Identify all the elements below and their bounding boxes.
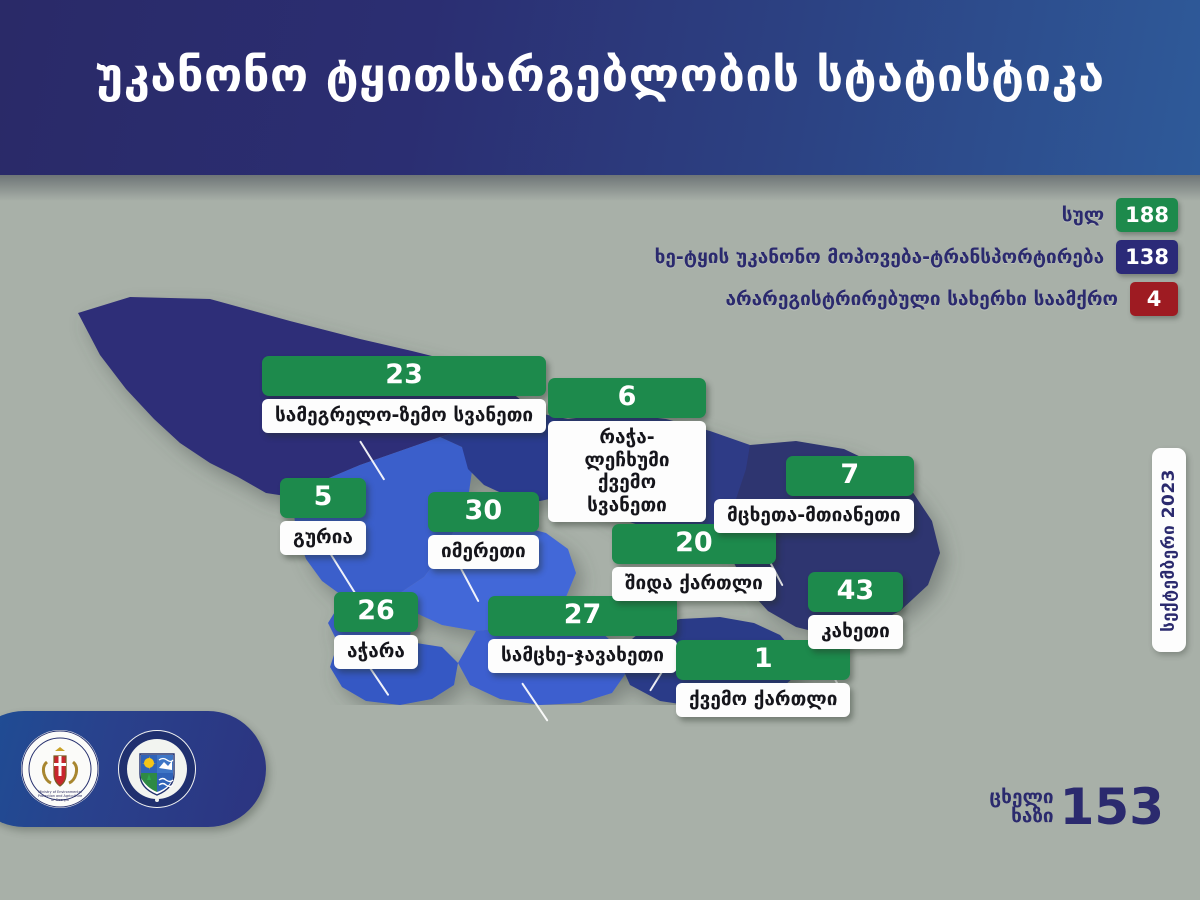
region-value: 30: [428, 492, 539, 532]
region-value: 43: [808, 572, 903, 612]
region-label-line2: ქვემო სვანეთი: [587, 471, 667, 515]
legend-badge: 188: [1116, 198, 1178, 232]
callout-kvemo-kartli[interactable]: 1 ქვემო ქართლი: [676, 640, 850, 717]
callout-guria[interactable]: 5 გურია: [280, 478, 366, 555]
hotline-number: 153: [1060, 784, 1164, 830]
region-value: 5: [280, 478, 366, 518]
callout-racha[interactable]: 6 რაჭა-ლეჩხუმი ქვემო სვანეთი: [548, 378, 706, 522]
region-value: 23: [262, 356, 546, 396]
hotline[interactable]: ცხელი ხაზი 153: [989, 784, 1164, 830]
region-label: ქვემო ქართლი: [676, 683, 850, 716]
region-value: 6: [548, 378, 706, 418]
region-label: აჭარა: [334, 635, 418, 668]
infographic-root: უკანონო ტყითსარგებლობის სტატისტიკა: [0, 0, 1200, 900]
region-value: 7: [786, 456, 914, 496]
callout-imereti[interactable]: 30 იმერეთი: [428, 492, 539, 569]
region-label: მცხეთა-მთიანეთი: [714, 499, 914, 532]
hotline-label-line2: ხაზი: [989, 807, 1053, 826]
region-value: 26: [334, 592, 418, 632]
callout-mtskheta[interactable]: 7 მცხეთა-მთიანეთი: [786, 456, 914, 533]
region-label: რაჭა-ლეჩხუმი ქვემო სვანეთი: [548, 421, 706, 522]
callout-shida-kartli[interactable]: 20 შიდა ქართლი: [612, 524, 776, 601]
region-label: იმერეთი: [428, 535, 539, 568]
legend: სულ 188 ხე-ტყის უკანონო მოპოვება-ტრანსპო…: [655, 198, 1178, 316]
region-label: კახეთი: [808, 615, 903, 648]
date-badge-text: სექტემბერი 2023: [1159, 469, 1179, 632]
legend-row-sawmill[interactable]: არარეგისტრირებული სახერხი საამქრო 4: [726, 282, 1179, 316]
svg-text:of Georgia: of Georgia: [51, 798, 69, 802]
callout-adjara[interactable]: 26 აჭარა: [334, 592, 418, 669]
header-banner: უკანონო ტყითსარგებლობის სტატისტიკა: [0, 0, 1200, 175]
region-value: 27: [488, 596, 677, 636]
region-label: სამეგრელო-ზემო სვანეთი: [262, 399, 546, 432]
hotline-label: ცხელი ხაზი: [989, 788, 1053, 826]
page-title: უკანონო ტყითსარგებლობის სტატისტიკა: [0, 48, 1200, 103]
region-label: გურია: [280, 521, 366, 554]
legend-badge: 4: [1130, 282, 1178, 316]
legend-row-logging[interactable]: ხე-ტყის უკანონო მოპოვება-ტრანსპორტირება …: [655, 240, 1178, 274]
region-label: შიდა ქართლი: [612, 567, 776, 600]
callout-kakheti[interactable]: 43 კახეთი: [808, 572, 903, 649]
legend-label: ხე-ტყის უკანონო მოპოვება-ტრანსპორტირება: [655, 246, 1105, 268]
region-label-line1: რაჭა-ლეჩხუმი: [584, 426, 669, 470]
legend-badge: 138: [1116, 240, 1178, 274]
ministry-emblem-icon: Ministry of Environmental Protection and…: [21, 730, 99, 808]
date-badge: სექტემბერი 2023: [1152, 448, 1186, 652]
callout-samegrelo[interactable]: 23 სამეგრელო-ზემო სვანეთი: [262, 356, 546, 433]
region-label: სამცხე-ჯავახეთი: [488, 639, 677, 672]
legend-label: სულ: [1062, 204, 1104, 226]
department-emblem-icon: [118, 730, 196, 808]
legend-label: არარეგისტრირებული სახერხი საამქრო: [726, 288, 1119, 310]
callout-samtskhe[interactable]: 27 სამცხე-ჯავახეთი: [488, 596, 677, 673]
legend-row-total[interactable]: სულ 188: [1062, 198, 1178, 232]
logo-panel: Ministry of Environmental Protection and…: [0, 711, 266, 827]
